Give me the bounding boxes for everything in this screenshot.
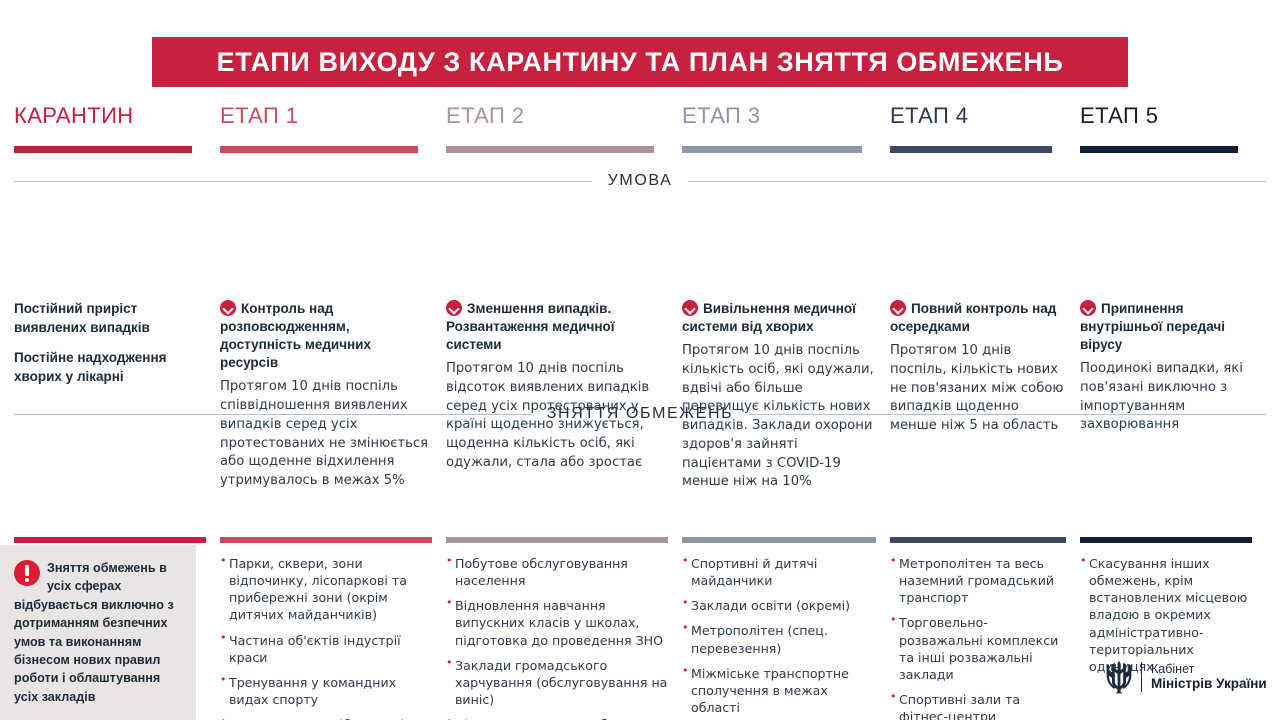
stage-accent-bar bbox=[220, 146, 418, 153]
chevron-down-circle-icon bbox=[1080, 300, 1096, 316]
logo-text: Кабінет Міністрів України bbox=[1151, 662, 1267, 693]
list-item: Міжміське транспортне сполучення в межах… bbox=[682, 665, 876, 716]
list-item: Скасування інших обмежень, крім встановл… bbox=[1080, 555, 1252, 675]
restrictions-list: Парки, сквери, зони відпочинку, лісопарк… bbox=[220, 555, 432, 720]
warning-text-wrap: Зняття обмежень в усіх сферах відбуваєть… bbox=[14, 559, 182, 706]
restrictions-accent-bar bbox=[890, 537, 1066, 543]
list-item: Тренування у командних видах спорту bbox=[220, 674, 432, 708]
stage-title: ЕТАП 3 bbox=[682, 105, 876, 135]
restrictions-accent-bar bbox=[1080, 537, 1252, 543]
logo-line-2: Міністрів України bbox=[1151, 676, 1267, 692]
stage-column-2: ЕТАП 1Контроль над розповсюдженням, дост… bbox=[220, 105, 446, 705]
page-title: ЕТАПИ ВИХОДУ З КАРАНТИНУ ТА ПЛАН ЗНЯТТЯ … bbox=[217, 47, 1064, 78]
list-item: Частина об'єктів індустрії краси bbox=[220, 632, 432, 666]
condition-block: Зменшення випадків. Розвантаження медичн… bbox=[446, 300, 668, 473]
condition-heading-wrap: Вивільнення медичної системи від хворих bbox=[682, 300, 876, 336]
list-item: Спортивні зали та фітнес-центри bbox=[890, 691, 1066, 720]
condition-body: Протягом 10 днів поспіль, кількість нови… bbox=[890, 342, 1066, 436]
condition-body: Протягом 10 днів поспіль співвідношення … bbox=[220, 378, 432, 490]
condition-body: Поодинокі випадки, які пов'язані виключн… bbox=[1080, 360, 1252, 435]
list-item: Торговельно-розважальні комплекси та інш… bbox=[890, 614, 1066, 683]
list-item: Метрополітен та весь наземний громадськи… bbox=[890, 555, 1066, 606]
stage-title: ЕТАП 5 bbox=[1080, 105, 1252, 135]
stage-title: ЕТАП 2 bbox=[446, 105, 668, 135]
list-item: Оптова та роздрібна торгівля непродоволь… bbox=[220, 716, 432, 720]
list-item: Метрополітен (спец. перевезення) bbox=[682, 622, 876, 656]
restrictions-accent-bar bbox=[14, 537, 206, 543]
condition-heading: Повний контроль над осередками bbox=[890, 301, 1056, 334]
stage-columns: КАРАНТИНПостійний приріст виявлених випа… bbox=[14, 105, 1266, 705]
stage-accent-bar bbox=[14, 146, 192, 153]
condition-heading: Припинення внутрішньої передачі вірусу bbox=[1080, 301, 1225, 352]
infographic-page: ЕТАПИ ВИХОДУ З КАРАНТИНУ ТА ПЛАН ЗНЯТТЯ … bbox=[0, 0, 1280, 720]
list-item: Заклади громадського харчування (обслуго… bbox=[446, 657, 668, 708]
restrictions-block: Побутове обслуговування населенняВідновл… bbox=[446, 537, 668, 720]
list-item: Заклади освіти (окремі) bbox=[682, 597, 876, 614]
condition-heading-wrap: Припинення внутрішньої передачі вірусу bbox=[1080, 300, 1252, 354]
condition-body: Протягом 10 днів поспіль відсоток виявле… bbox=[446, 360, 668, 472]
stage-column-5: ЕТАП 4Повний контроль над осередкамиПрот… bbox=[890, 105, 1080, 705]
condition-statement: Постійне надходження хворих у лікарні bbox=[14, 349, 206, 386]
restrictions-block: Парки, сквери, зони відпочинку, лісопарк… bbox=[220, 537, 432, 720]
condition-heading-wrap: Зменшення випадків. Розвантаження медичн… bbox=[446, 300, 668, 354]
restrictions-list: Метрополітен та весь наземний громадськи… bbox=[890, 555, 1066, 720]
condition-heading: Зменшення випадків. Розвантаження медичн… bbox=[446, 301, 615, 352]
stage-accent-bar bbox=[682, 146, 862, 153]
condition-block: Припинення внутрішньої передачі вірусуПо… bbox=[1080, 300, 1252, 435]
chevron-down-circle-icon bbox=[220, 300, 236, 316]
condition-heading: Вивільнення медичної системи від хворих bbox=[682, 301, 856, 334]
stage-column-4: ЕТАП 3Вивільнення медичної системи від х… bbox=[682, 105, 890, 705]
list-item: Відновлення навчання випускних класів у … bbox=[446, 597, 668, 648]
stage-accent-bar bbox=[890, 146, 1052, 153]
warning-box: Зняття обмежень в усіх сферах відбуваєть… bbox=[0, 545, 196, 720]
restrictions-list: Спортивні й дитячі майданчикиЗаклади осв… bbox=[682, 555, 876, 720]
logo-line-1: Кабінет bbox=[1151, 662, 1267, 677]
stage-accent-bar bbox=[1080, 146, 1238, 153]
exclamation-icon bbox=[14, 560, 40, 586]
list-item: Спортивні й дитячі майданчики bbox=[682, 555, 876, 589]
condition-heading-wrap: Повний контроль над осередками bbox=[890, 300, 1066, 336]
condition-block: Вивільнення медичної системи від хворихП… bbox=[682, 300, 876, 492]
restrictions-accent-bar bbox=[220, 537, 432, 543]
condition-statement: Постійний приріст виявлених випадків bbox=[14, 300, 206, 337]
chevron-down-circle-icon bbox=[890, 300, 906, 316]
condition-heading-wrap: Контроль над розповсюдженням, доступніст… bbox=[220, 300, 432, 372]
warning-text: Зняття обмежень в усіх сферах відбуваєть… bbox=[14, 561, 174, 704]
tryzub-emblem bbox=[1106, 660, 1132, 694]
government-logo: Кабінет Міністрів України bbox=[1106, 660, 1267, 694]
restrictions-list: Побутове обслуговування населенняВідновл… bbox=[446, 555, 668, 720]
stage-column-6: ЕТАП 5Припинення внутрішньої передачі ві… bbox=[1080, 105, 1266, 705]
stage-accent-bar bbox=[446, 146, 654, 153]
stage-title: ЕТАП 1 bbox=[220, 105, 432, 135]
list-item: Парки, сквери, зони відпочинку, лісопарк… bbox=[220, 555, 432, 624]
condition-block: Повний контроль над осередкамиПротягом 1… bbox=[890, 300, 1066, 436]
condition-heading: Контроль над розповсюдженням, доступніст… bbox=[220, 301, 371, 370]
list-item: Побутове обслуговування населення bbox=[446, 555, 668, 589]
stage-column-3: ЕТАП 2Зменшення випадків. Розвантаження … bbox=[446, 105, 682, 705]
stage-title: КАРАНТИН bbox=[14, 105, 206, 135]
restrictions-block: Спортивні й дитячі майданчикиЗаклади осв… bbox=[682, 537, 876, 720]
restrictions-list: Скасування інших обмежень, крім встановл… bbox=[1080, 555, 1252, 675]
list-item: Кінотеатри просто неба bbox=[446, 716, 668, 720]
chevron-down-circle-icon bbox=[446, 300, 462, 316]
condition-block: Контроль над розповсюдженням, доступніст… bbox=[220, 300, 432, 491]
logo-divider bbox=[1141, 662, 1142, 692]
restrictions-accent-bar bbox=[446, 537, 668, 543]
restrictions-block: Метрополітен та весь наземний громадськи… bbox=[890, 537, 1066, 720]
stage-title: ЕТАП 4 bbox=[890, 105, 1066, 135]
chevron-down-circle-icon bbox=[682, 300, 698, 316]
restrictions-accent-bar bbox=[682, 537, 876, 543]
condition-body: Протягом 10 днів поспіль кількість осіб,… bbox=[682, 342, 876, 492]
condition-block: Постійний приріст виявлених випадківПост… bbox=[14, 300, 206, 399]
title-banner: ЕТАПИ ВИХОДУ З КАРАНТИНУ ТА ПЛАН ЗНЯТТЯ … bbox=[152, 37, 1128, 87]
